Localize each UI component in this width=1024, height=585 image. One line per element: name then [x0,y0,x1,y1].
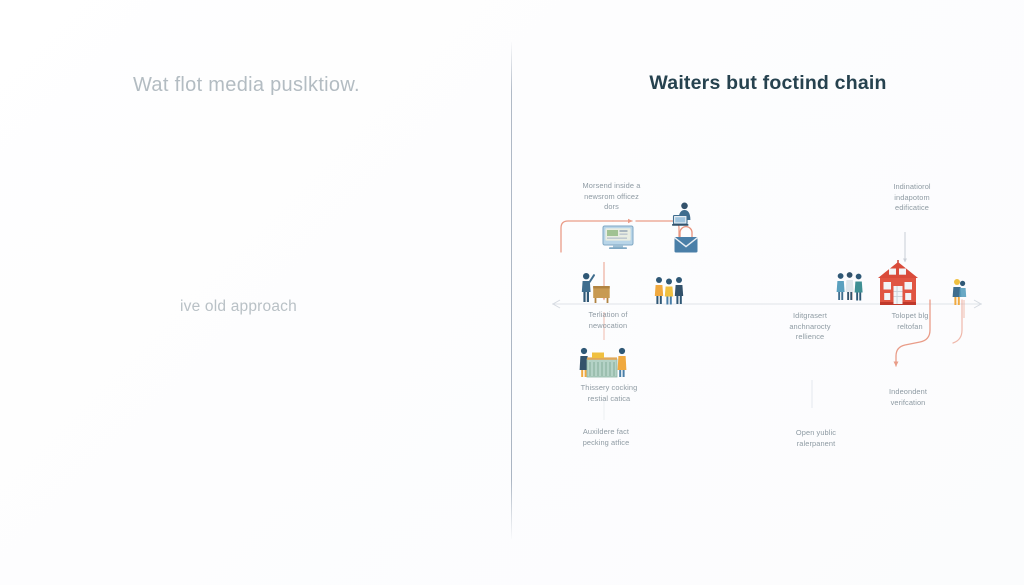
label-thissery-cocking: Thissery cocking restial catica [553,383,665,404]
diagram-baseline [552,300,982,308]
slide-root: Wat flot media puslktiow. ive old approa… [0,0,1024,585]
computer-monitor-icon [603,226,633,249]
label-tolopet-big-reltofan: Tolopet blg reltofan [860,311,960,332]
label-institutional-edification: Indinatiorol indapotom edificatice [862,182,962,214]
presenter-at-desk-icon [582,273,610,303]
red-house-icon [878,260,918,305]
connector-right-loop [896,300,962,366]
label-terliation-newocation: Terliation of newocation [553,310,663,331]
envelope-icon [674,227,698,253]
label-iditgrasert-rellience: Iditgrasert anchnarocty rellience [762,311,858,343]
label-auxildere-fact-pecking: Auxildere fact pecking atfice [550,427,662,448]
flow-diagram [0,0,1024,585]
label-independent-verification: Indeondent verifcation [858,387,958,408]
counter-service-icon [580,348,627,377]
people-pair-icon [837,272,863,300]
label-open-public-ralerpanent: Open yublic ralerpanent [766,428,866,449]
label-newsroom-office: Morsend inside a newsrom officez dors [559,181,664,213]
group-of-people-icon [655,277,683,305]
person-at-laptop-icon [672,203,690,226]
